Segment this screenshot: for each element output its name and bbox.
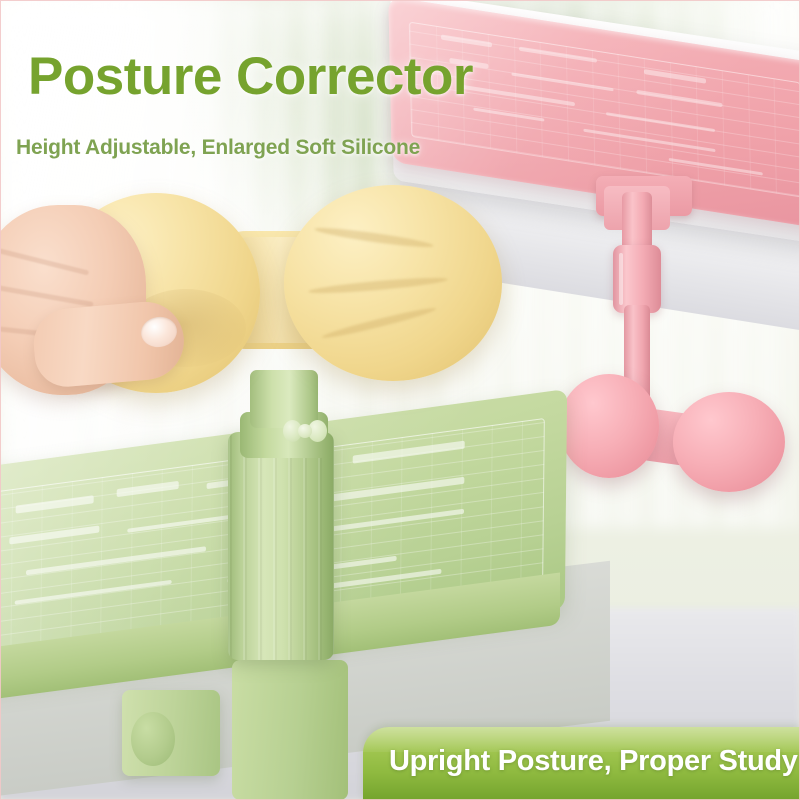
footer-banner: Upright Posture, Proper Study: [363, 727, 800, 800]
green-post-fluting: [228, 432, 334, 660]
pink-silicone-pad: [555, 368, 785, 480]
green-clamp-knob: [131, 712, 175, 766]
bow-knot: [298, 424, 312, 438]
green-lower-post: [228, 432, 334, 660]
pink-pad-lobe-right: [673, 392, 785, 492]
product-poster: Posture Corrector Height Adjustable, Enl…: [0, 0, 800, 800]
yellow-pad-lobe-right: [284, 185, 502, 381]
pink-pad-lobe-left: [559, 374, 659, 478]
demonstrating-hand: [0, 205, 226, 410]
pink-adjust-collar: [613, 245, 661, 313]
footer-banner-text: Upright Posture, Proper Study: [389, 745, 798, 778]
green-desk-clamp-secondary: [232, 660, 348, 800]
green-bow-knob: [283, 418, 327, 444]
page-title: Posture Corrector: [28, 46, 473, 107]
page-subtitle: Height Adjustable, Enlarged Soft Silicon…: [16, 136, 420, 160]
